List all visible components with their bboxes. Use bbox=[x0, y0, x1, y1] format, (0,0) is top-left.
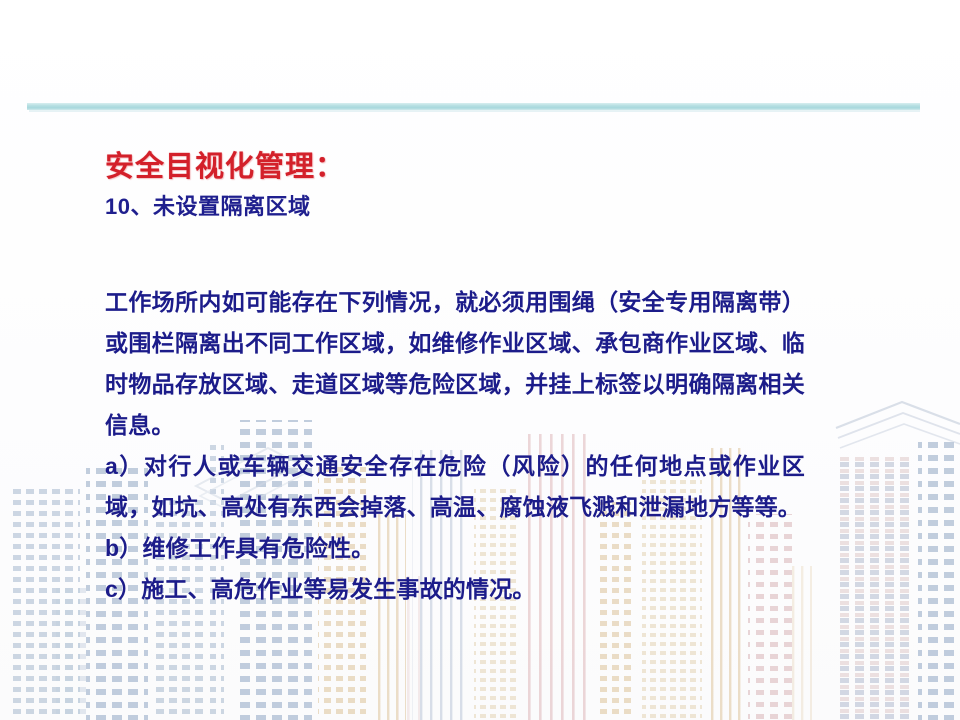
body-text-block: 工作场所内如可能存在下列情况，就必须用围绳（安全专用隔离带）或围栏隔离出不同工作… bbox=[105, 282, 805, 610]
body-paragraph-main: 工作场所内如可能存在下列情况，就必须用围绳（安全专用隔离带）或围栏隔离出不同工作… bbox=[105, 282, 805, 446]
heading-block: 安全目视化管理： 10、未设置隔离区域 bbox=[105, 150, 825, 221]
body-list-item-c: c）施工、高危作业等易发生事故的情况。 bbox=[105, 569, 805, 610]
body-list-item-a: a）对行人或车辆交通安全存在危险（风险）的任何地点或作业区域，如坑、高处有东西会… bbox=[105, 446, 805, 528]
page-title: 安全目视化管理： bbox=[105, 150, 825, 185]
body-list-item-b: b）维修工作具有危险性。 bbox=[105, 528, 805, 569]
slide-content: 安全目视化管理： 10、未设置隔离区域 工作场所内如可能存在下列情况，就必须用围… bbox=[0, 0, 960, 720]
page-subtitle: 10、未设置隔离区域 bbox=[105, 193, 825, 221]
slide-canvas: 安全目视化管理： 10、未设置隔离区域 工作场所内如可能存在下列情况，就必须用围… bbox=[0, 0, 960, 720]
